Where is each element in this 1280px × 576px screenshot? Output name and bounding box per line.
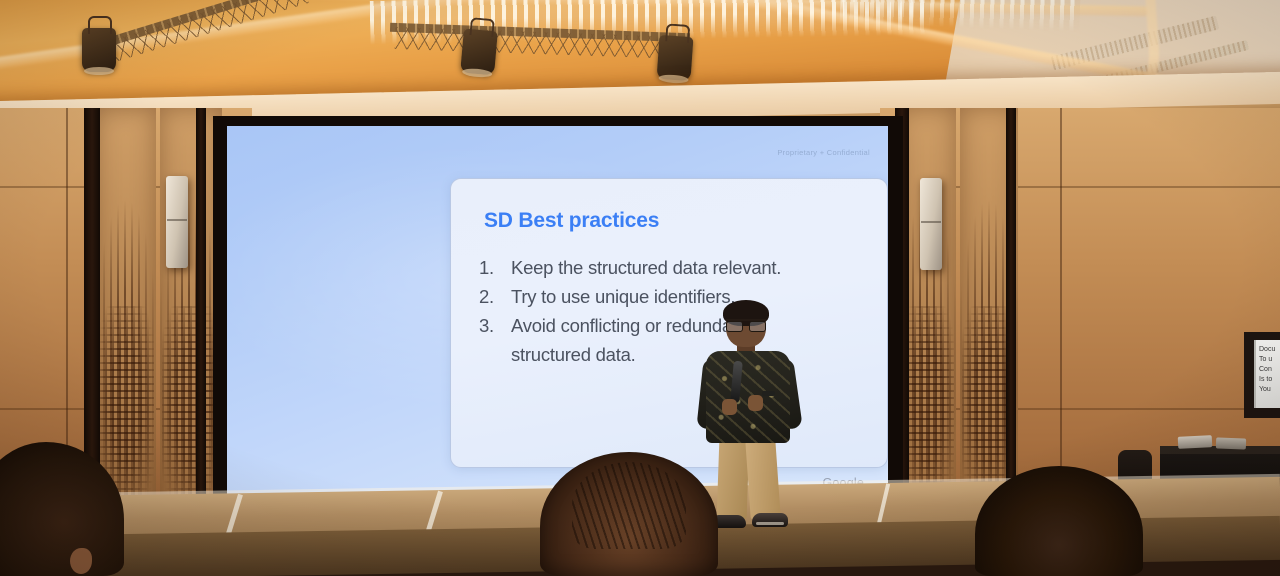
signage-line: To u bbox=[1259, 355, 1280, 365]
list-item-number: 2. bbox=[479, 282, 511, 311]
audience-ear bbox=[70, 548, 92, 574]
stage-spotlight-right bbox=[657, 35, 694, 81]
wristwatch-icon bbox=[762, 391, 775, 396]
wall-speaker-right bbox=[920, 178, 942, 270]
list-item: 3. Avoid conflicting or redundant bbox=[479, 311, 869, 340]
spotlight-lens bbox=[84, 67, 114, 75]
spotlight-yoke-icon bbox=[88, 16, 112, 34]
presenter bbox=[696, 303, 800, 531]
list-item-text: structured data. bbox=[511, 340, 869, 369]
presenter-hand-left bbox=[722, 399, 737, 415]
laptop-icon bbox=[1178, 435, 1213, 449]
stage-spotlight-center bbox=[460, 29, 498, 76]
conference-photo-scene: Proprietary + Confidential SD Best pract… bbox=[0, 0, 1280, 576]
slide-bullet-list: 1. Keep the structured data relevant. 2.… bbox=[479, 253, 869, 369]
slide-title: SD Best practices bbox=[484, 209, 659, 233]
list-item-text: Try to use unique identifiers. bbox=[511, 282, 869, 311]
laptop-secondary-icon bbox=[1216, 437, 1246, 449]
list-item-text: Avoid conflicting or redundant bbox=[511, 311, 869, 340]
spotlight-yoke-icon bbox=[665, 23, 690, 43]
list-item: 2. Try to use unique identifiers. bbox=[479, 282, 869, 311]
presenter-hand-right bbox=[748, 395, 763, 411]
signage-line: Con bbox=[1259, 365, 1280, 375]
stage-spotlight-left bbox=[82, 28, 116, 72]
list-item: 1. Keep the structured data relevant. bbox=[479, 253, 869, 282]
eyeglasses-icon bbox=[726, 319, 766, 330]
signage-line: You bbox=[1259, 385, 1280, 395]
list-item-number: 1. bbox=[479, 253, 511, 282]
slide-content-card: SD Best practices 1. Keep the structured… bbox=[450, 178, 888, 468]
wall-reveal-left-2 bbox=[196, 108, 206, 548]
presenter-leg-right bbox=[745, 438, 781, 520]
presenter-leg-left bbox=[717, 439, 750, 520]
confidential-notice: Proprietary + Confidential bbox=[777, 148, 870, 157]
wall-speaker-left bbox=[166, 176, 188, 268]
signage-line: Docu bbox=[1259, 345, 1280, 355]
list-item-text: Keep the structured data relevant. bbox=[511, 253, 869, 282]
spotlight-body bbox=[82, 28, 116, 72]
list-item-number: 3. bbox=[479, 311, 511, 340]
signage-line: Is to bbox=[1259, 375, 1280, 385]
room-signage: Docu To u Con Is to You bbox=[1254, 340, 1280, 408]
presenter-shoe-right bbox=[752, 513, 788, 527]
list-item-number bbox=[479, 340, 511, 369]
spotlight-yoke-icon bbox=[469, 17, 494, 37]
list-item: structured data. bbox=[479, 340, 869, 369]
